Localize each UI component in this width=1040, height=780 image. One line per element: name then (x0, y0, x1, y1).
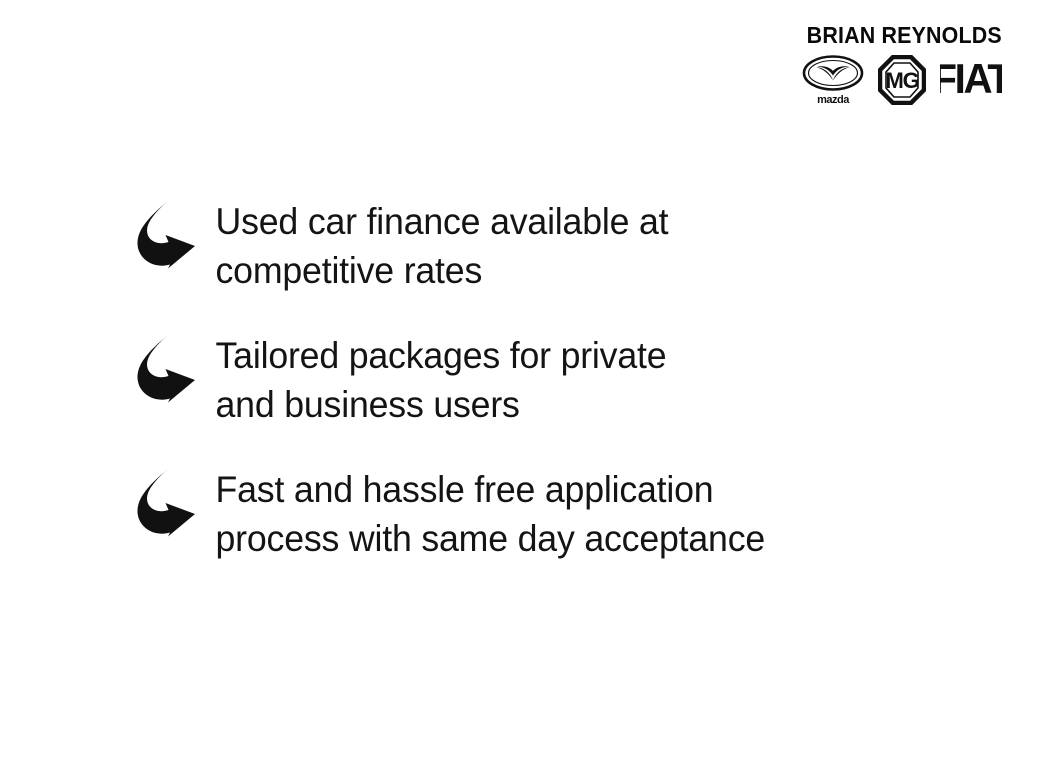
list-item-line: and business users (216, 380, 903, 429)
list-item-line: Used car finance available at (216, 197, 903, 246)
list-item-line: Tailored packages for private (216, 331, 903, 380)
mazda-oval-icon (802, 55, 864, 91)
curved-arrow-icon (128, 197, 202, 271)
benefits-list: Used car finance available at competitiv… (128, 193, 928, 563)
svg-text:FIAT: FIAT (940, 55, 1002, 101)
dealership-name: BRIAN REYNOLDS (807, 22, 1002, 48)
mazda-wordmark-icon: mazda (803, 92, 863, 106)
list-item: Used car finance available at competitiv… (128, 193, 928, 295)
list-item-text: Tailored packages for private and busine… (202, 327, 903, 429)
brand-block: BRIAN REYNOLDS mazda MG (784, 22, 1002, 106)
list-item-line: Fast and hassle free application (216, 465, 903, 514)
curved-arrow-icon (128, 331, 202, 405)
svg-text:MG: MG (885, 68, 918, 93)
list-item-line: competitive rates (216, 246, 903, 295)
mg-logo: MG (878, 55, 926, 105)
list-item-text: Fast and hassle free application process… (202, 461, 903, 563)
svg-text:mazda: mazda (817, 94, 850, 106)
curved-arrow-icon (128, 465, 202, 539)
manufacturer-logo-row: mazda MG FIAT (784, 55, 1002, 106)
list-item: Tailored packages for private and busine… (128, 327, 928, 429)
slide-canvas: BRIAN REYNOLDS mazda MG (0, 0, 1040, 780)
mazda-logo: mazda (802, 55, 864, 106)
list-item-line: process with same day acceptance (216, 514, 903, 563)
list-item-text: Used car finance available at competitiv… (202, 193, 903, 295)
fiat-logo: FIAT (940, 55, 1002, 101)
list-item: Fast and hassle free application process… (128, 461, 928, 563)
